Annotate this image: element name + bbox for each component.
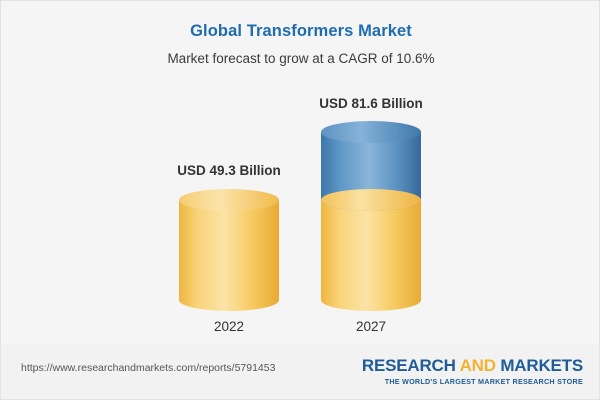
- cylinder-2022-svg: [179, 189, 279, 311]
- category-label-2022: 2022: [149, 319, 309, 334]
- infographic-card: Global Transformers Market Market foreca…: [0, 0, 600, 400]
- brand-name: RESEARCH AND MARKETS: [362, 356, 583, 375]
- report-url[interactable]: https://www.researchandmarkets.com/repor…: [21, 362, 275, 374]
- brand-word-and: AND: [460, 356, 501, 375]
- footer-bar: https://www.researchandmarkets.com/repor…: [1, 344, 600, 399]
- brand-word-markets: MARKETS: [500, 356, 583, 375]
- category-label-2027: 2027: [291, 319, 451, 334]
- bar-group-2022: USD 49.3 Billion: [149, 1, 309, 346]
- value-label-2022: USD 49.3 Billion: [149, 163, 309, 179]
- brand-tagline: THE WORLD'S LARGEST MARKET RESEARCH STOR…: [362, 377, 583, 386]
- chart-plot-area: USD 49.3 Billion: [1, 1, 600, 346]
- bar-group-2027: USD 81.6 Billion: [291, 1, 451, 346]
- cylinder-2027-svg: [321, 121, 421, 311]
- value-label-2027: USD 81.6 Billion: [291, 96, 451, 112]
- brand-logo: RESEARCH AND MARKETS THE WORLD'S LARGEST…: [362, 356, 583, 386]
- cylinder-bar-2022: [179, 189, 279, 311]
- brand-word-research: RESEARCH: [362, 356, 460, 375]
- cylinder-bar-2027: [321, 121, 421, 311]
